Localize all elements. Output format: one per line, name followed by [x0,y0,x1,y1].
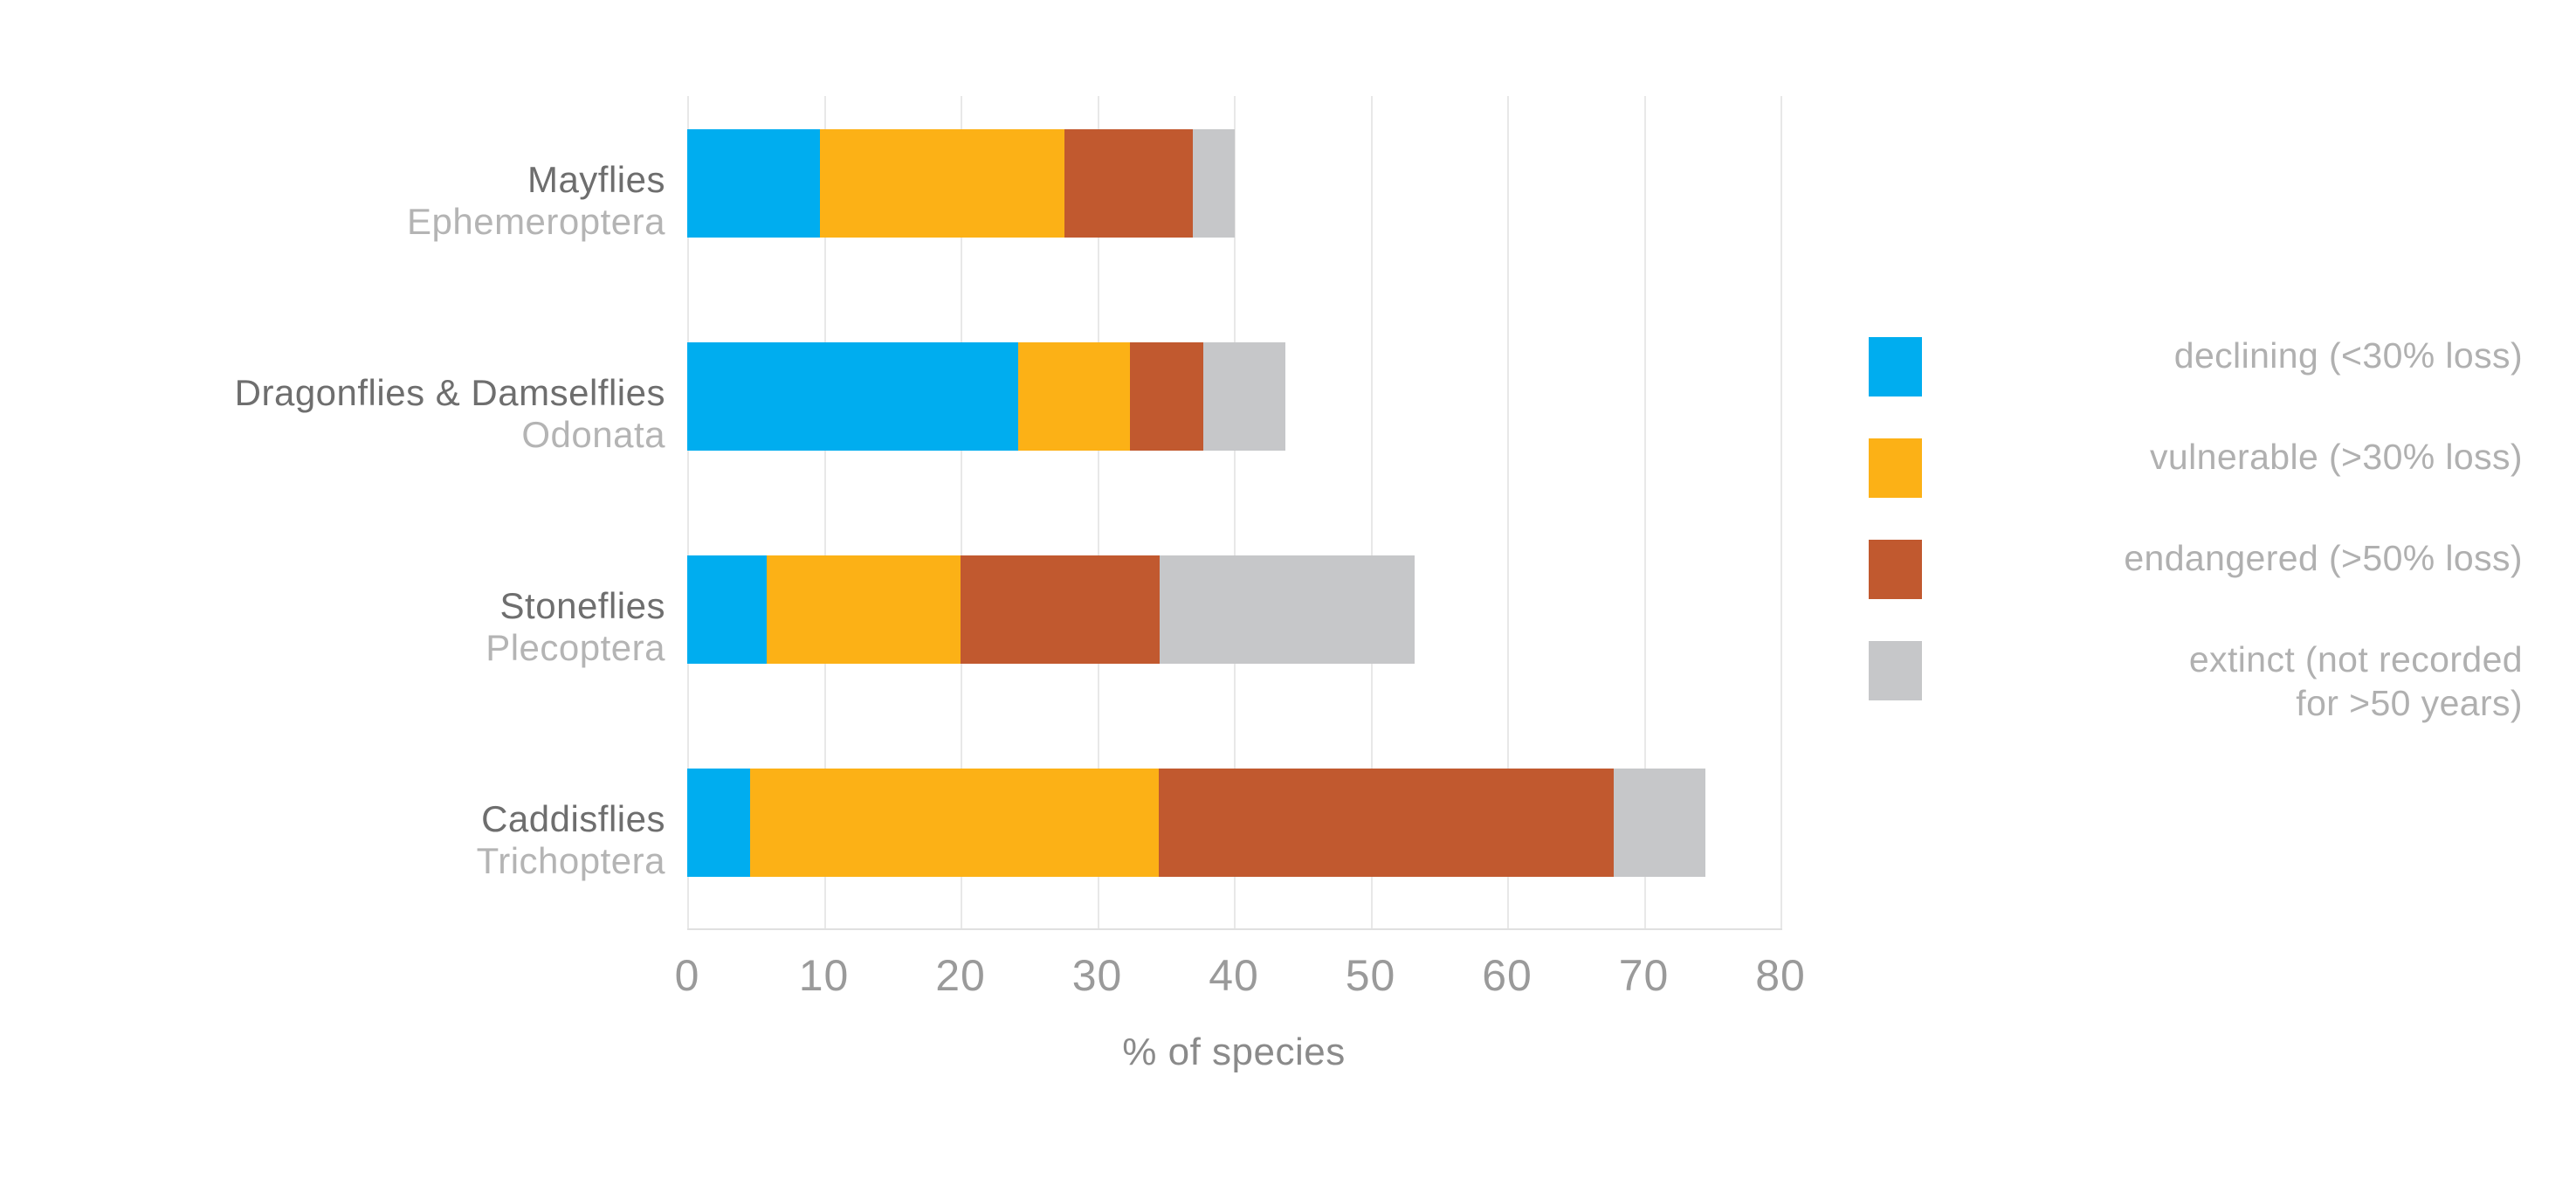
bar-row-dragonflies[interactable] [687,342,1285,451]
segment-endangered[interactable] [1159,769,1614,877]
segment-declining[interactable] [687,769,750,877]
category-common-name: Caddisflies [54,798,665,840]
legend-item-endangered[interactable]: endangered (>50% loss) [1869,536,2559,599]
x-tick-30: 30 [1037,950,1159,1001]
segment-extinct[interactable] [1193,129,1236,238]
legend-swatch-extinct [1869,641,1922,700]
legend-item-declining[interactable]: declining (<30% loss) [1869,334,2559,396]
legend: declining (<30% loss) vulnerable (>30% l… [1869,334,2559,763]
segment-endangered[interactable] [961,555,1161,664]
segment-endangered[interactable] [1130,342,1204,451]
category-common-name: Dragonflies & Damselflies [54,372,665,414]
segment-vulnerable[interactable] [1018,342,1130,451]
legend-label: endangered (>50% loss) [1964,536,2523,580]
x-axis-title: % of species [687,1031,1780,1074]
x-tick-80: 80 [1719,950,1842,1001]
segment-declining[interactable] [687,342,1018,451]
legend-swatch-declining [1869,337,1922,396]
category-label-mayflies: Mayflies Ephemeroptera [54,159,665,243]
category-common-name: Stoneflies [54,585,665,627]
segment-vulnerable[interactable] [820,129,1064,238]
segment-vulnerable[interactable] [750,769,1159,877]
category-label-dragonflies: Dragonflies & Damselflies Odonata [54,372,665,456]
x-tick-70: 70 [1583,950,1705,1001]
legend-label-line1: extinct (not recorded [2189,639,2523,679]
legend-label-extinct: extinct (not recorded for >50 years) [1964,638,2523,725]
x-tick-20: 20 [899,950,1022,1001]
legend-swatch-endangered [1869,540,1922,599]
segment-extinct[interactable] [1160,555,1414,664]
legend-label: declining (<30% loss) [1964,334,2523,377]
gridline-80 [1780,96,1782,930]
bar-row-stoneflies[interactable] [687,555,1415,664]
legend-swatch-vulnerable [1869,438,1922,498]
x-tick-10: 10 [763,950,885,1001]
category-common-name: Mayflies [54,159,665,201]
category-latin-name: Trichoptera [54,840,665,882]
category-label-caddisflies: Caddisflies Trichoptera [54,798,665,882]
x-axis-baseline [687,928,1782,930]
plot-area [687,96,1780,930]
segment-extinct[interactable] [1203,342,1285,451]
legend-label-line2: for >50 years) [2296,683,2523,723]
legend-item-vulnerable[interactable]: vulnerable (>30% loss) [1869,435,2559,498]
segment-extinct[interactable] [1614,769,1705,877]
stacked-bar-chart: Mayflies Ephemeroptera Dragonflies & Dam… [0,0,2576,1179]
category-label-stoneflies: Stoneflies Plecoptera [54,585,665,669]
x-tick-50: 50 [1310,950,1432,1001]
category-latin-name: Plecoptera [54,627,665,669]
x-tick-40: 40 [1173,950,1295,1001]
bar-row-caddisflies[interactable] [687,769,1705,877]
bar-row-mayflies[interactable] [687,129,1235,238]
category-latin-name: Ephemeroptera [54,201,665,243]
segment-declining[interactable] [687,555,767,664]
segment-vulnerable[interactable] [767,555,961,664]
category-latin-name: Odonata [54,414,665,456]
x-tick-0: 0 [626,950,748,1001]
segment-declining[interactable] [687,129,820,238]
legend-item-extinct[interactable]: extinct (not recorded for >50 years) [1869,638,2559,725]
segment-endangered[interactable] [1064,129,1193,238]
x-tick-60: 60 [1446,950,1568,1001]
legend-label: vulnerable (>30% loss) [1964,435,2523,479]
